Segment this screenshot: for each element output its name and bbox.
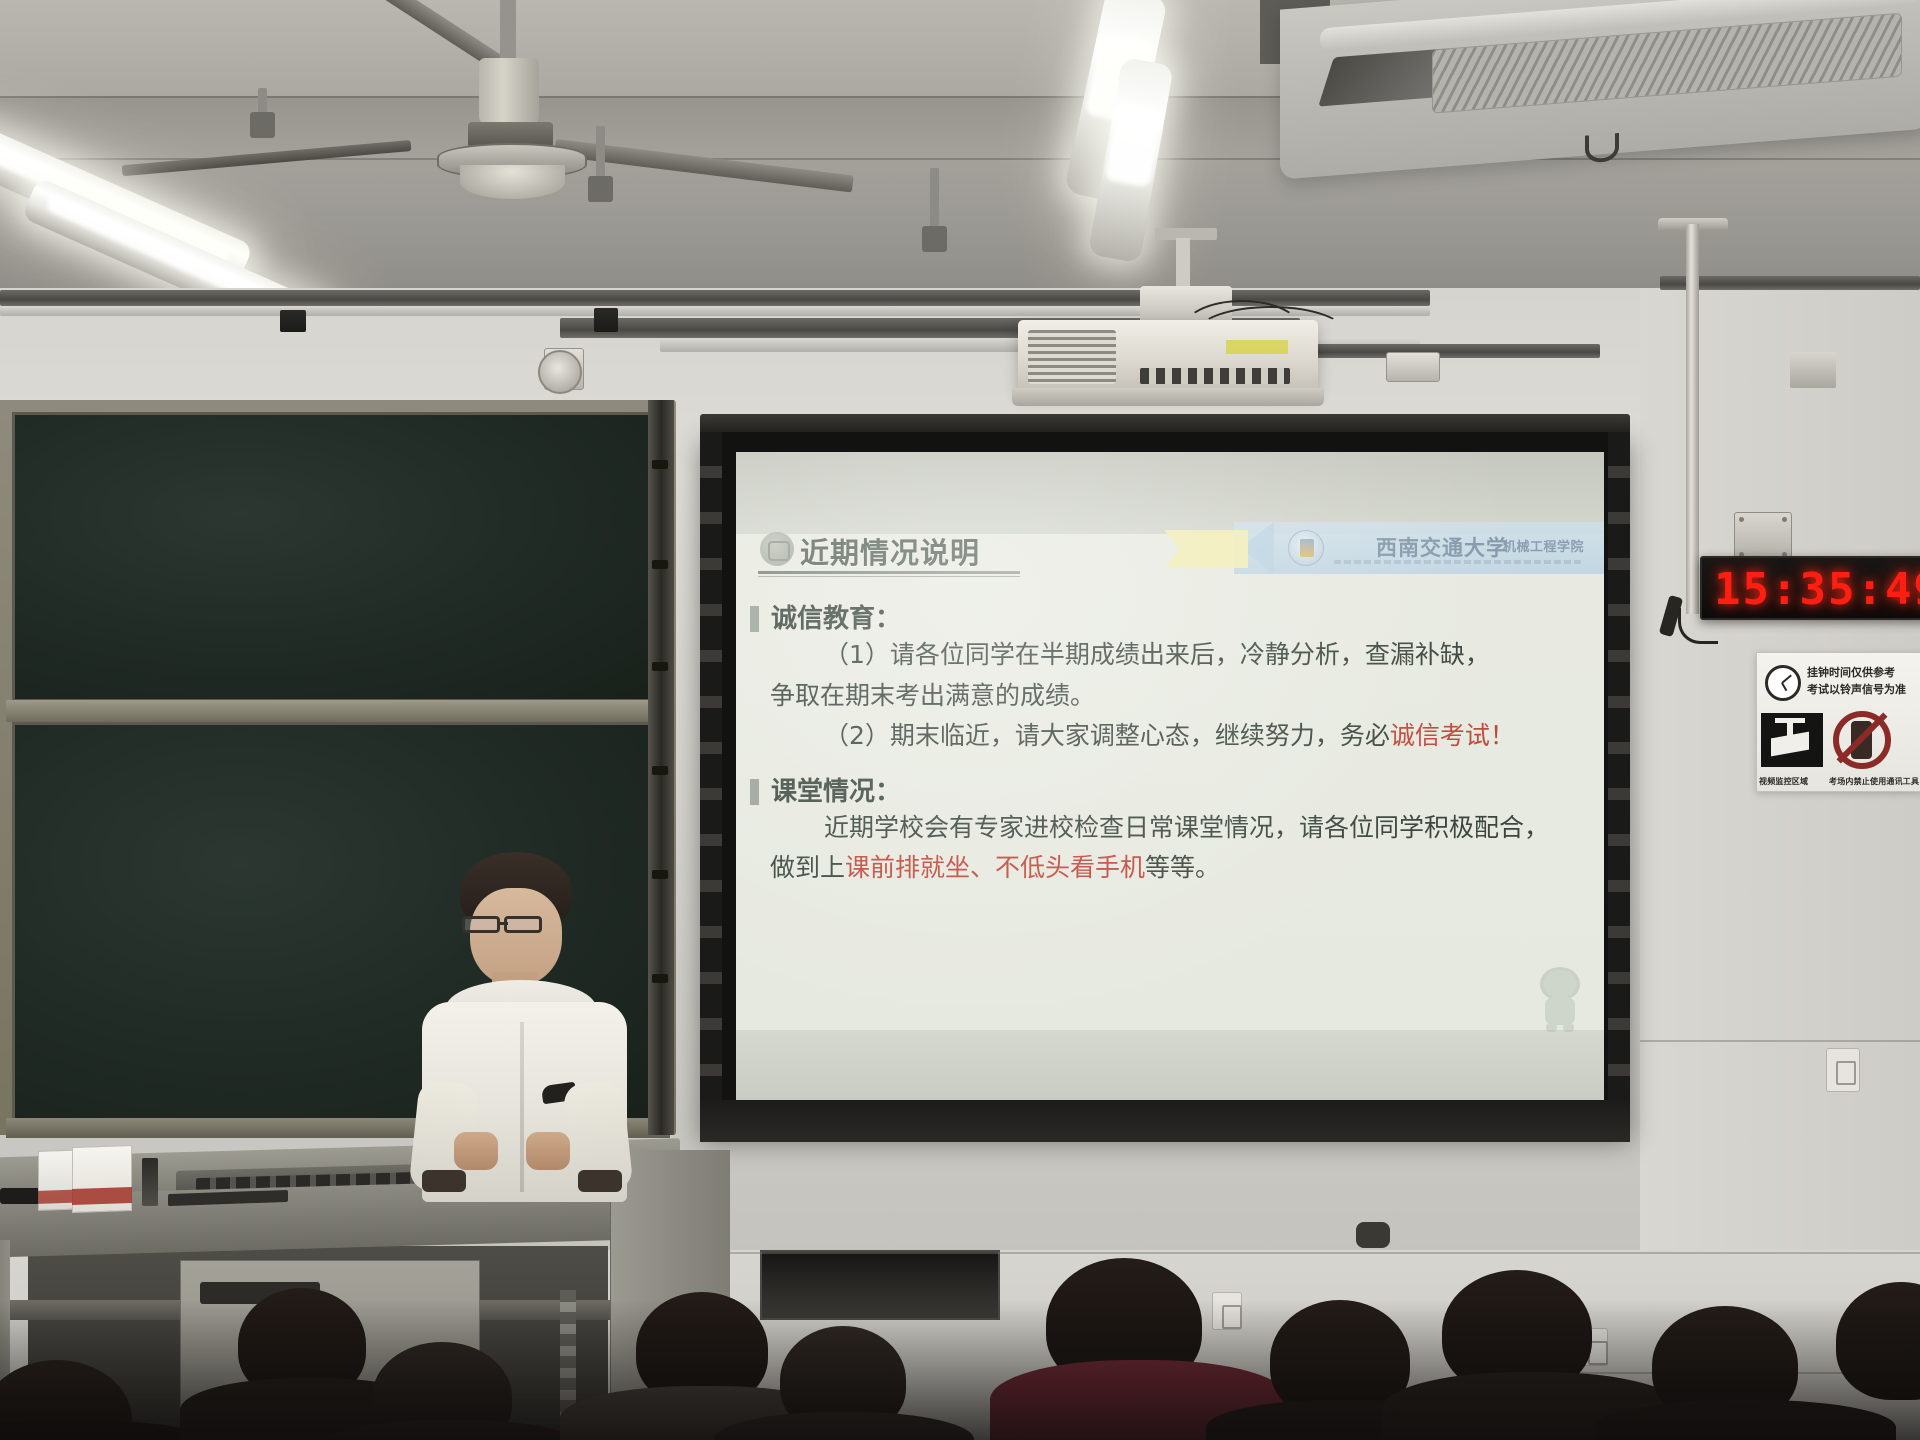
section-2-heading: 课堂情况： [771, 771, 901, 808]
university-name-latin [1334, 560, 1584, 564]
section-bullet-icon [750, 779, 759, 805]
section-1-line-3-text: （2）期末临近，请大家调整心态，继续努力，务必 [824, 721, 1390, 750]
fan-motor [479, 58, 539, 126]
classroom-scene: 近期情况说明 西南交通大学 机械工程学院 诚信教育： （1）请各位同学在半期成绩… [0, 0, 1920, 1440]
eyeglasses-bridge [500, 922, 508, 925]
light-stem [258, 88, 267, 134]
wall-trim-line [720, 1252, 1920, 1254]
exam-rules-sign: 挂钟时间仅供参考 考试以铃声信号为准 视频监控区域 考场内禁止使用通讯工具 [1756, 652, 1920, 792]
wall-bracket [1790, 352, 1836, 388]
slide-bottom-band [736, 1030, 1604, 1102]
slide-title: 近期情况说明 [800, 530, 980, 572]
section-1-line-3: （2）期末临近，请大家调整心态，继续努力，务必诚信考试！ [770, 716, 1600, 757]
slide-title-underline [758, 571, 1020, 574]
track-notch [652, 560, 668, 569]
screen-bottom-bar [700, 1100, 1630, 1142]
wall-power-outlet[interactable] [1826, 1048, 1860, 1092]
projector-mount-arm [1176, 238, 1190, 290]
wall-trim-line [1640, 1040, 1920, 1042]
jacket-zipper [520, 1022, 524, 1192]
light-stem [596, 126, 605, 198]
tube-glow [1104, 101, 1163, 188]
department-name: 机械工程学院 [1503, 536, 1584, 555]
section-2-line-2-tail: 等等。 [1145, 853, 1220, 882]
ceiling-rail-right [1660, 276, 1920, 290]
right-wall-panel [1640, 288, 1920, 1318]
slide-body: 诚信教育： （1）请各位同学在半期成绩出来后，冷静分析，查漏补缺， 争取在期末考… [750, 592, 1600, 889]
rail-bracket [280, 310, 306, 332]
cctv-camera-icon [1761, 713, 1823, 767]
sign-text: 挂钟时间仅供参考 考试以铃声信号为准 [1807, 665, 1917, 698]
fan-light-dome [460, 165, 565, 199]
jacket-cuff [578, 1170, 622, 1192]
wall-speaker [1386, 352, 1440, 382]
slide-bullet-icon [760, 532, 794, 566]
section-bullet-icon [750, 606, 759, 632]
section-1-line-3-highlight: 诚信考试！ [1390, 721, 1515, 750]
wall-mounted-panel [760, 1250, 1000, 1320]
track-notch [652, 460, 668, 469]
wall-clock-mount [538, 350, 582, 394]
rail-bracket [594, 308, 618, 332]
header-ribbon-accent [1164, 530, 1248, 568]
cabinet-vents [560, 1290, 576, 1420]
lecturer-hand [526, 1132, 570, 1170]
sign-caption-left: 视频监控区域 [1759, 776, 1808, 787]
mascot-leg [1546, 1023, 1557, 1032]
sign-text-line-1: 挂钟时间仅供参考 [1807, 665, 1917, 682]
blackboard-upper-panel [12, 412, 664, 702]
jacket-cuff [422, 1170, 466, 1192]
projector-vent-grille [1028, 330, 1116, 384]
sign-caption-right: 考场内禁止使用通讯工具 [1829, 776, 1919, 787]
screen-tension-edge-right [1608, 432, 1630, 1132]
projector-cable [1196, 306, 1346, 360]
mascot-head [1540, 967, 1580, 1001]
projector-port-panel [1140, 368, 1290, 384]
lecturer [400, 852, 650, 1192]
screen-tension-edge-left [700, 432, 722, 1132]
wall-power-outlet[interactable] [1212, 1292, 1242, 1330]
section-1-line-2: 争取在期末考出满意的成绩。 [770, 676, 1600, 717]
screen-track-right [1300, 344, 1600, 358]
slide-content: 近期情况说明 西南交通大学 机械工程学院 诚信教育： （1）请各位同学在半期成绩… [736, 528, 1604, 1033]
wall-cable-outlet [1356, 1222, 1390, 1248]
section-1-heading: 诚信教育： [771, 598, 901, 635]
digital-clock: 15:35:49 [1700, 556, 1920, 620]
track-notch [652, 870, 668, 879]
slide-header: 近期情况说明 西南交通大学 机械工程学院 [736, 528, 1604, 584]
chalk-box-red-label [72, 1187, 132, 1205]
track-notch [652, 974, 668, 983]
electrical-junction-box [1734, 512, 1792, 562]
slide-title-underline-thin [758, 576, 1020, 577]
camera-body [1771, 732, 1809, 757]
section-2-line-1: 近期学校会有专家进校检查日常课堂情况，请各位同学积极配合， [770, 808, 1600, 849]
slide-section-heading: 诚信教育： [750, 598, 1600, 635]
university-seal-icon [1288, 530, 1324, 566]
fan-downrod [500, 0, 516, 62]
blackboard-middle-ledge [6, 700, 670, 722]
analog-clock-icon [1765, 665, 1801, 701]
slide-section-heading: 课堂情况： [750, 771, 1600, 808]
mascot-body [1545, 997, 1575, 1025]
projector-lens-housing [1012, 388, 1324, 406]
mascot-leg [1563, 1023, 1574, 1032]
microphone-pole [1686, 224, 1699, 614]
marker-bottle[interactable] [142, 1158, 158, 1206]
sign-text-line-2: 考试以铃声信号为准 [1807, 682, 1917, 699]
track-notch [652, 662, 668, 671]
section-2-line-2: 做到上课前排就坐、不低头看手机等等。 [770, 848, 1600, 889]
light-stem [930, 168, 939, 248]
track-notch [652, 766, 668, 775]
lecturer-hand [454, 1132, 498, 1170]
university-name: 西南交通大学 [1376, 532, 1508, 562]
section-2-line-2-lead: 做到上 [770, 853, 845, 882]
no-mobile-phone-icon [1833, 711, 1891, 769]
section-2-line-2-highlight: 课前排就坐、不低头看手机 [845, 853, 1145, 882]
eyeglasses-icon [462, 916, 500, 933]
section-1-line-1: （1）请各位同学在半期成绩出来后，冷静分析，查漏补缺， [770, 635, 1600, 676]
clock-time-display: 15:35:49 [1714, 564, 1920, 615]
cartoon-mascot-icon [1534, 967, 1586, 1031]
eyeglasses-icon [504, 916, 542, 933]
blackboard-slide-track [648, 400, 674, 1135]
